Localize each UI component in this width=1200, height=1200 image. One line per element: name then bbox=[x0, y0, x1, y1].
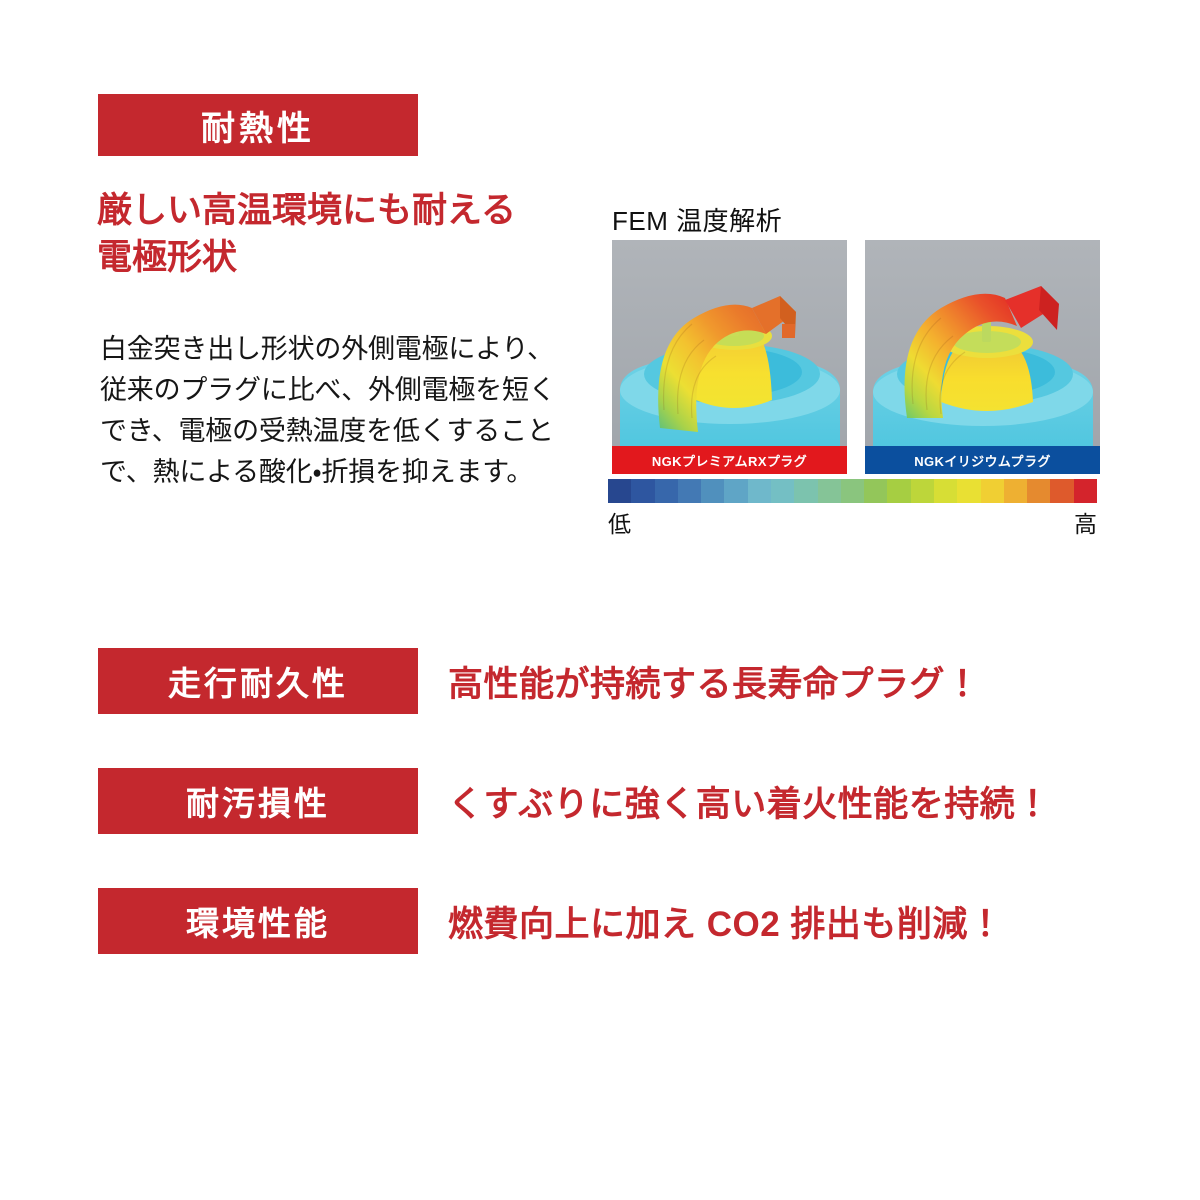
section-heat-heading-line2: 電極形状 bbox=[97, 235, 597, 282]
fem-panel-iridium: NGKイリジウムプラグ bbox=[865, 240, 1100, 474]
fem-scale-segment-2 bbox=[655, 479, 678, 503]
feature-badge-fouling: 耐汚損性 bbox=[98, 768, 418, 834]
fem-scale-low-label: 低 bbox=[608, 505, 631, 539]
fem-caption-iridium: NGKイリジウムプラグ bbox=[865, 446, 1100, 474]
feature-row: 環境性能 燃費向上に加え CO2 排出も削減！ bbox=[98, 888, 1058, 954]
fem-scale-segment-3 bbox=[678, 479, 701, 503]
fem-scale-labels: 低 高 bbox=[608, 505, 1097, 539]
feature-text: くすぶりに強く高い着火性能を持続！ bbox=[448, 776, 1051, 827]
feature-row: 走行耐久性 高性能が持続する長寿命プラグ！ bbox=[98, 648, 1058, 714]
fem-scale-segment-7 bbox=[771, 479, 794, 503]
feature-text: 高性能が持続する長寿命プラグ！ bbox=[448, 656, 981, 707]
fem-scale-segment-6 bbox=[748, 479, 771, 503]
feature-badge-durability: 走行耐久性 bbox=[98, 648, 418, 714]
fem-scale-segment-20 bbox=[1074, 479, 1097, 503]
fem-scale-segment-9 bbox=[818, 479, 841, 503]
fem-scale-segment-11 bbox=[864, 479, 887, 503]
fem-scale-segment-19 bbox=[1050, 479, 1073, 503]
fem-scale-segment-18 bbox=[1027, 479, 1050, 503]
section-heat-badge-label: 耐熱性 bbox=[201, 101, 315, 150]
fem-scale-segment-17 bbox=[1004, 479, 1027, 503]
feature-badge-label: 環境性能 bbox=[186, 897, 330, 945]
section-heat-badge: 耐熱性 bbox=[98, 94, 418, 156]
fem-panel-group: NGKプレミアムRXプラグ bbox=[612, 240, 1100, 474]
fem-scale-segment-8 bbox=[794, 479, 817, 503]
fem-thermal-image-iridium bbox=[865, 240, 1100, 474]
section-heat-heading-line1: 厳しい高温環境にも耐える bbox=[97, 188, 597, 235]
fem-scale-segment-4 bbox=[701, 479, 724, 503]
fem-thermal-image-premium-rx bbox=[612, 240, 847, 474]
feature-badge-label: 走行耐久性 bbox=[168, 657, 348, 705]
fem-scale-high-label: 高 bbox=[1074, 505, 1097, 539]
fem-scale-segment-14 bbox=[934, 479, 957, 503]
infographic-page: 耐熱性 厳しい高温環境にも耐える 電極形状 白金突き出し形状の外側電極により、従… bbox=[0, 0, 1200, 1200]
fem-scale-segment-15 bbox=[957, 479, 980, 503]
fem-scale-segment-10 bbox=[841, 479, 864, 503]
fem-caption-premium-rx: NGKプレミアムRXプラグ bbox=[612, 446, 847, 474]
fem-panel-premium-rx: NGKプレミアムRXプラグ bbox=[612, 240, 847, 474]
fem-scale-segment-5 bbox=[724, 479, 747, 503]
fem-title: FEM 温度解析 bbox=[612, 201, 782, 238]
fem-scale-segment-13 bbox=[911, 479, 934, 503]
fem-scale-segment-12 bbox=[887, 479, 910, 503]
feature-badge-environment: 環境性能 bbox=[98, 888, 418, 954]
fem-temperature-scale bbox=[608, 479, 1097, 503]
fem-scale-segment-16 bbox=[981, 479, 1004, 503]
fem-scale-segment-0 bbox=[608, 479, 631, 503]
section-heat-body: 白金突き出し形状の外側電極により、従来のプラグに比べ、外側電極を短くでき、電極の… bbox=[100, 329, 580, 493]
fem-scale-segment-1 bbox=[631, 479, 654, 503]
feature-badge-label: 耐汚損性 bbox=[186, 777, 330, 825]
feature-text: 燃費向上に加え CO2 排出も削減！ bbox=[448, 896, 1003, 947]
feature-row: 耐汚損性 くすぶりに強く高い着火性能を持続！ bbox=[98, 768, 1058, 834]
section-heat-heading: 厳しい高温環境にも耐える 電極形状 bbox=[97, 188, 597, 281]
